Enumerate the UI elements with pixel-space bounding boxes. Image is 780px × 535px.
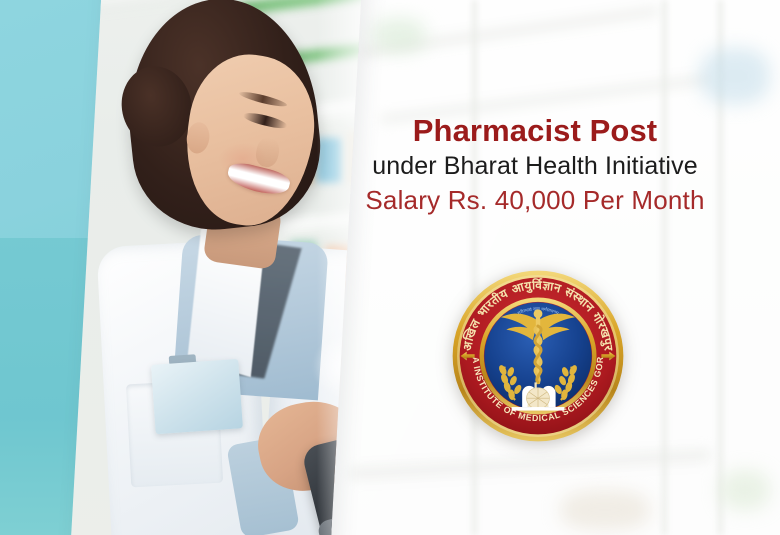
banner-salary-text: Salary Rs. 40,000 Per Month bbox=[330, 183, 740, 218]
id-badge bbox=[151, 359, 243, 434]
background-shelf-line bbox=[350, 451, 710, 482]
background-bokeh bbox=[700, 48, 770, 104]
banner-subheadline: under Bharat Health Initiative bbox=[330, 150, 740, 184]
background-bokeh bbox=[560, 490, 650, 530]
pharmacist-job-banner: Pharmacist Post under Bharat Health Init… bbox=[0, 0, 780, 535]
background-mullion bbox=[660, 0, 669, 535]
aiims-gorakhpur-logo: अखिल भारतीय आयुर्विज्ञान संस्थान गोरखपुर… bbox=[450, 268, 626, 444]
pharmacist-photo bbox=[70, 0, 361, 535]
aiims-seal-icon: अखिल भारतीय आयुर्विज्ञान संस्थान गोरखपुर… bbox=[450, 268, 626, 444]
banner-text-block: Pharmacist Post under Bharat Health Init… bbox=[330, 112, 740, 218]
page-title: Pharmacist Post bbox=[330, 112, 740, 150]
background-bokeh bbox=[720, 470, 770, 510]
pharmacist-photo-panel bbox=[69, 0, 363, 535]
background-bokeh bbox=[372, 18, 426, 52]
